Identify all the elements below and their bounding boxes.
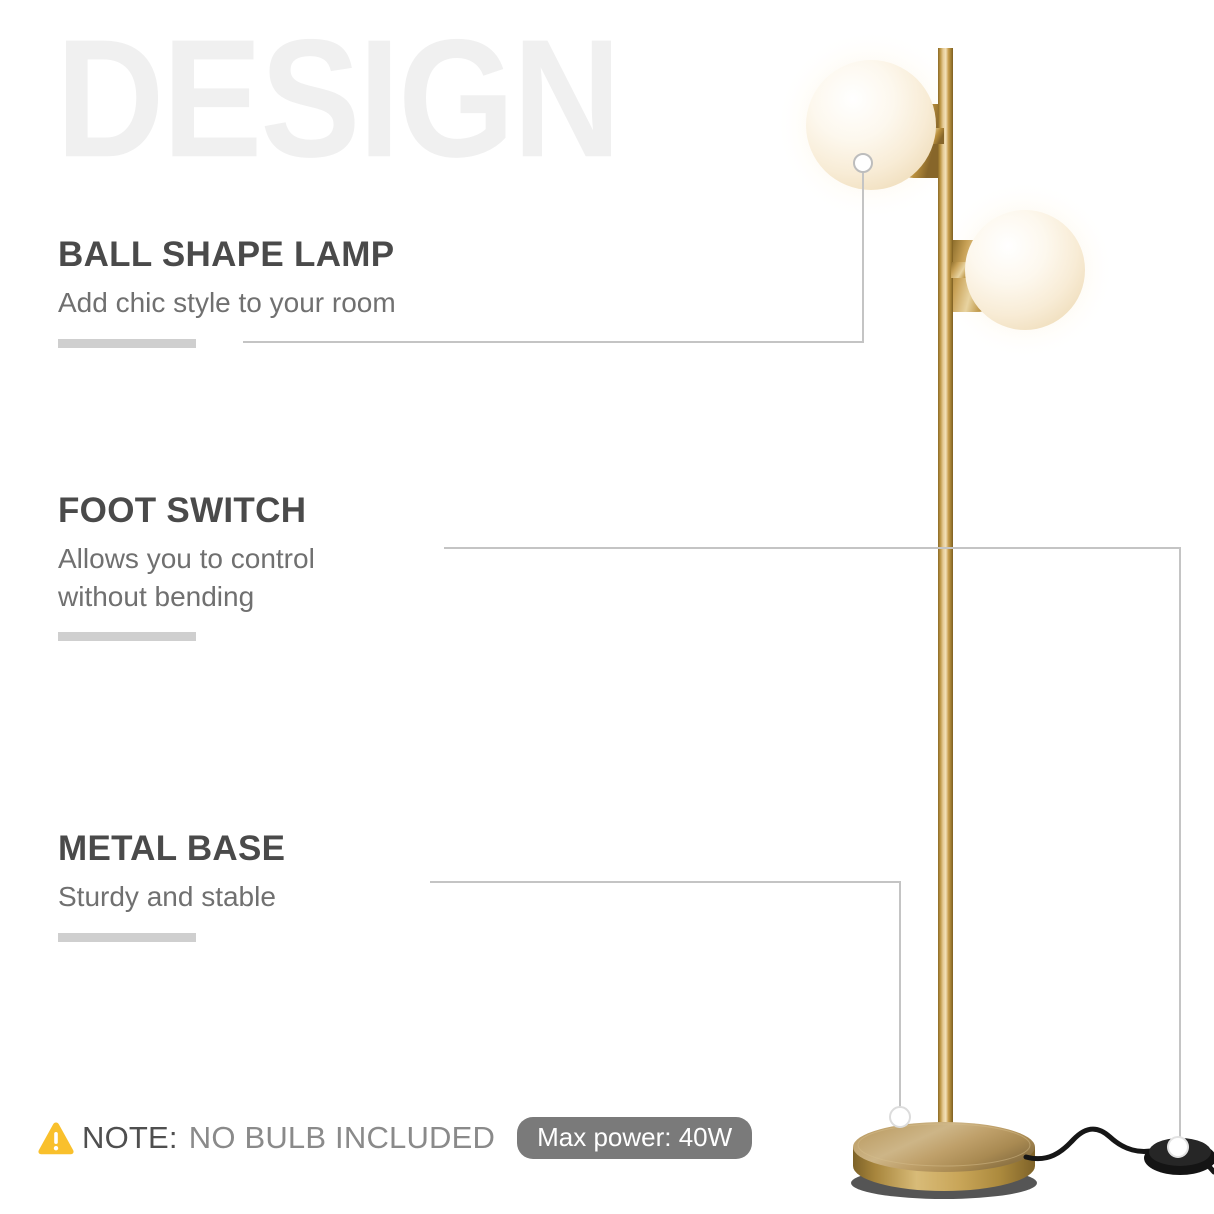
base-collar bbox=[933, 1128, 958, 1144]
note-text: NO BULB INCLUDED bbox=[189, 1120, 495, 1156]
infographic-canvas: DESIGN bbox=[0, 0, 1214, 1214]
design-watermark: DESIGN bbox=[56, 14, 619, 182]
foot-switch-pedal bbox=[1144, 1141, 1214, 1175]
upper-globe bbox=[806, 60, 936, 190]
upper-globe-stem bbox=[918, 128, 944, 144]
feature-subtitle: Add chic style to your room bbox=[58, 285, 396, 321]
lower-globe-glow bbox=[935, 180, 1115, 360]
connector-metal-base bbox=[430, 882, 900, 1128]
feature-subtitle: Allows you to control bbox=[58, 541, 315, 577]
power-cord-tail bbox=[1195, 1155, 1214, 1172]
warning-triangle-icon bbox=[36, 1118, 76, 1158]
lower-globe-stem bbox=[951, 262, 979, 278]
max-power-badge: Max power: 40W bbox=[517, 1117, 752, 1159]
connector-foot-switch bbox=[444, 548, 1180, 1138]
foot-switch-top bbox=[1149, 1138, 1211, 1166]
base-rim bbox=[853, 1147, 1035, 1191]
upper-globe-glow bbox=[775, 29, 967, 221]
upper-globe-fitting bbox=[886, 104, 938, 178]
brass-pole bbox=[938, 48, 953, 1148]
feature-ball-shape-lamp: BALL SHAPE LAMP Add chic style to your r… bbox=[58, 236, 396, 348]
feature-subtitle-line2: without bending bbox=[58, 579, 315, 615]
feature-title: FOOT SWITCH bbox=[58, 492, 315, 530]
base-shadow bbox=[851, 1167, 1037, 1199]
lower-globe-fitting bbox=[953, 240, 1006, 312]
base-disc-highlight bbox=[858, 1124, 1030, 1166]
note-row: NOTE: NO BULB INCLUDED Max power: 40W bbox=[36, 1114, 752, 1162]
feature-metal-base: METAL BASE Sturdy and stable bbox=[58, 830, 285, 942]
lower-globe bbox=[965, 210, 1085, 330]
note-label: NOTE: bbox=[82, 1120, 178, 1156]
metal-base-disc bbox=[853, 1122, 1035, 1172]
feature-title: BALL SHAPE LAMP bbox=[58, 236, 396, 274]
feature-foot-switch: FOOT SWITCH Allows you to control withou… bbox=[58, 492, 315, 641]
power-cord bbox=[1026, 1129, 1156, 1159]
callout-marker-foot-switch bbox=[1168, 1137, 1188, 1157]
feature-subtitle: Sturdy and stable bbox=[58, 879, 285, 915]
feature-accent-bar bbox=[58, 933, 196, 942]
callout-marker-globe bbox=[854, 154, 872, 172]
feature-accent-bar bbox=[58, 339, 196, 348]
callout-marker-base bbox=[890, 1107, 910, 1127]
feature-title: METAL BASE bbox=[58, 830, 285, 868]
feature-accent-bar bbox=[58, 632, 196, 641]
